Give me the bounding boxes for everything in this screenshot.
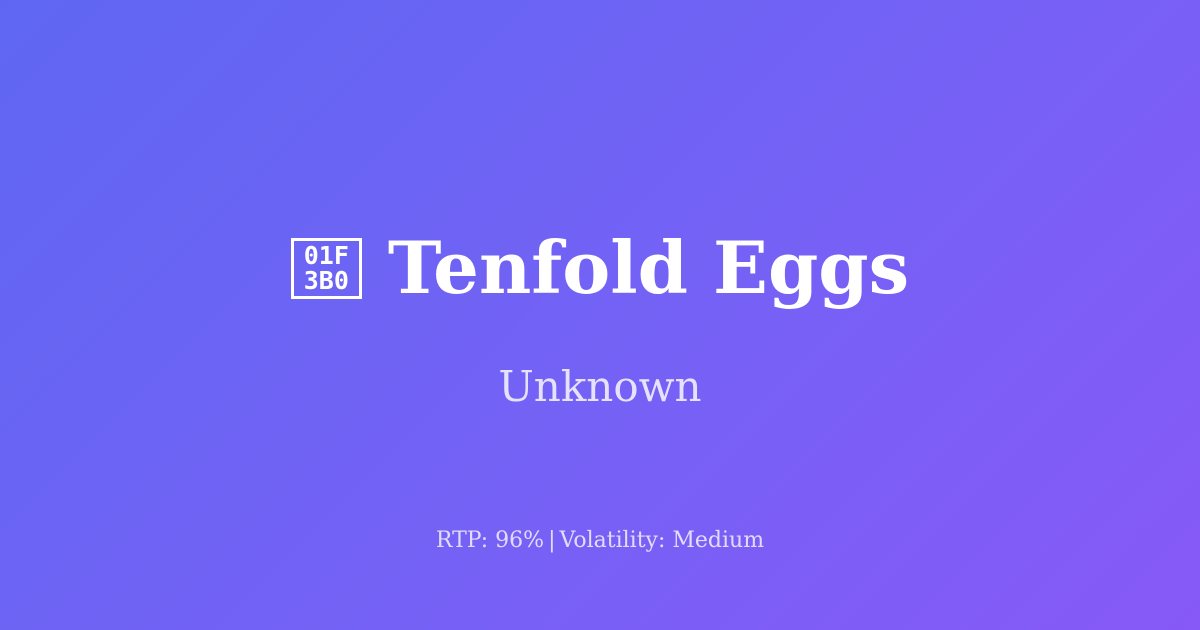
- game-share-card: 01F 3B0 Tenfold Eggs Unknown RTP: 96%|Vo…: [0, 0, 1200, 630]
- tofu-codepoint-top: 01F: [304, 243, 349, 268]
- title-row: 01F 3B0 Tenfold Eggs: [0, 232, 1200, 304]
- volatility-value: Volatility: Medium: [560, 528, 765, 553]
- meta-separator: |: [544, 528, 559, 553]
- game-title: Tenfold Eggs: [388, 232, 909, 304]
- rtp-value: RTP: 96%: [436, 528, 544, 553]
- game-meta-line: RTP: 96%|Volatility: Medium: [0, 528, 1200, 554]
- game-provider: Unknown: [0, 364, 1200, 410]
- slot-machine-emoji-tofu-icon: 01F 3B0: [291, 238, 362, 299]
- tofu-codepoint-bottom: 3B0: [304, 268, 349, 293]
